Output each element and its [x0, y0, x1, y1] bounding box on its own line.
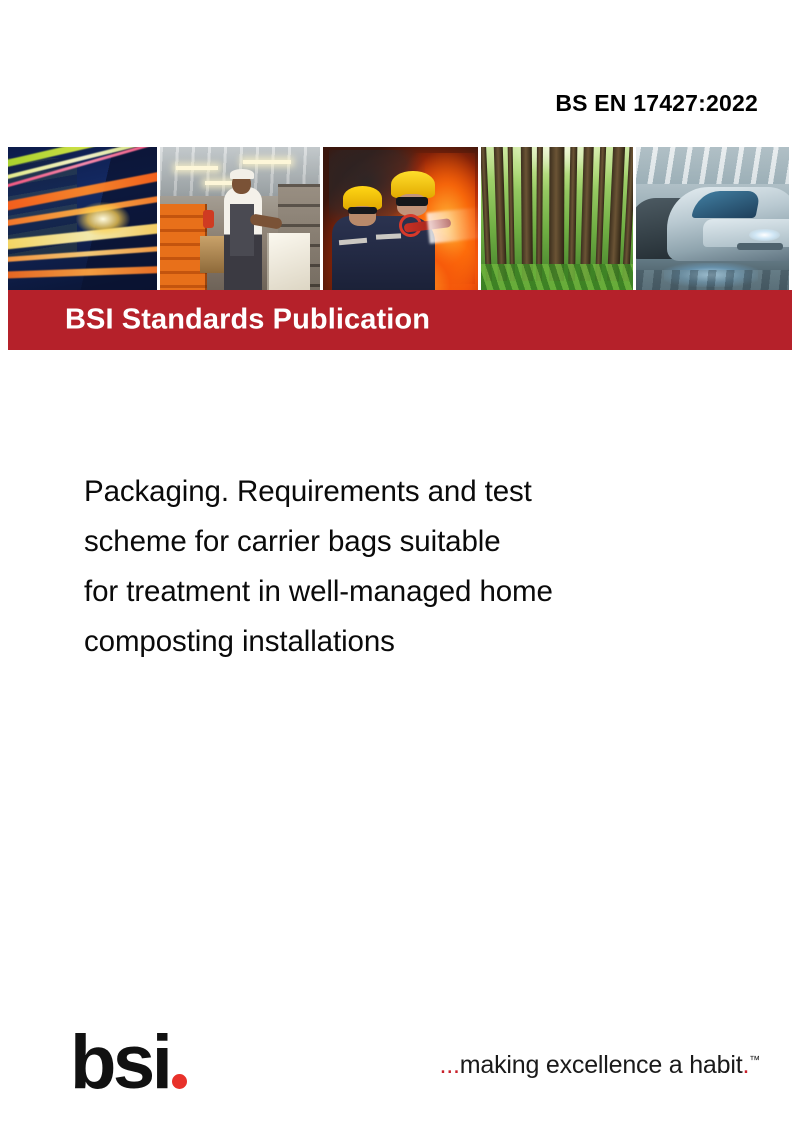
- hi-vis-stripe: [376, 233, 401, 239]
- photo-night-traffic-light-trails: [8, 147, 157, 290]
- photo-warehouse-worker: [160, 147, 320, 290]
- bsi-tagline: ...making excellence a habit.™: [440, 1051, 760, 1080]
- bsi-logo-wordmark: bsi: [70, 1032, 169, 1094]
- trademark-icon: ™: [749, 1055, 760, 1067]
- tree-trunk: [521, 147, 533, 281]
- warehouse-cart: [200, 236, 226, 273]
- car-grille: [737, 243, 783, 250]
- title-line-1: Packaging. Requirements and test: [84, 467, 724, 517]
- standard-number: BS EN 17427:2022: [555, 90, 758, 117]
- bsi-logo: bsi: [70, 1032, 187, 1094]
- title-line-4: composting installations: [84, 617, 724, 667]
- page-title: Packaging. Requirements and test scheme …: [84, 467, 724, 667]
- firefighter-visor: [396, 197, 429, 206]
- light-streak: [8, 264, 157, 280]
- factory-roof: [636, 147, 789, 184]
- ceiling-lamp: [176, 166, 218, 170]
- tree-trunk: [536, 147, 543, 281]
- worker-apron: [230, 204, 254, 255]
- cover-photo-strip: [8, 147, 792, 290]
- worker-cap: [230, 169, 254, 179]
- ceiling-lamp: [205, 181, 234, 185]
- factory-floor: [636, 270, 789, 290]
- stock-box: [267, 233, 311, 290]
- headlight-glow: [76, 202, 130, 236]
- bsi-logo-dot-icon: [172, 1074, 187, 1089]
- tagline-ellipsis: ...: [440, 1051, 460, 1079]
- document-cover-page: BS EN 17427:2022: [0, 0, 800, 1132]
- forest-undergrowth: [481, 264, 633, 290]
- car-headlight: [749, 229, 780, 242]
- publisher-banner: BSI Standards Publication: [8, 290, 792, 350]
- photo-firefighters: [323, 147, 478, 290]
- title-line-2: scheme for carrier bags suitable: [84, 517, 724, 567]
- photo-forest: [481, 147, 633, 290]
- firefighter-visor: [348, 207, 377, 214]
- tree-trunk: [568, 147, 577, 281]
- background-worker: [203, 210, 214, 229]
- tagline-text: making excellence a habit: [460, 1051, 743, 1079]
- title-line-3: for treatment in well-managed home: [84, 567, 724, 617]
- water-spray: [427, 207, 478, 244]
- publisher-banner-text: BSI Standards Publication: [65, 304, 430, 337]
- tree-trunk: [549, 147, 564, 281]
- ceiling-lamp: [243, 160, 291, 164]
- photo-car-assembly-line: [636, 147, 789, 290]
